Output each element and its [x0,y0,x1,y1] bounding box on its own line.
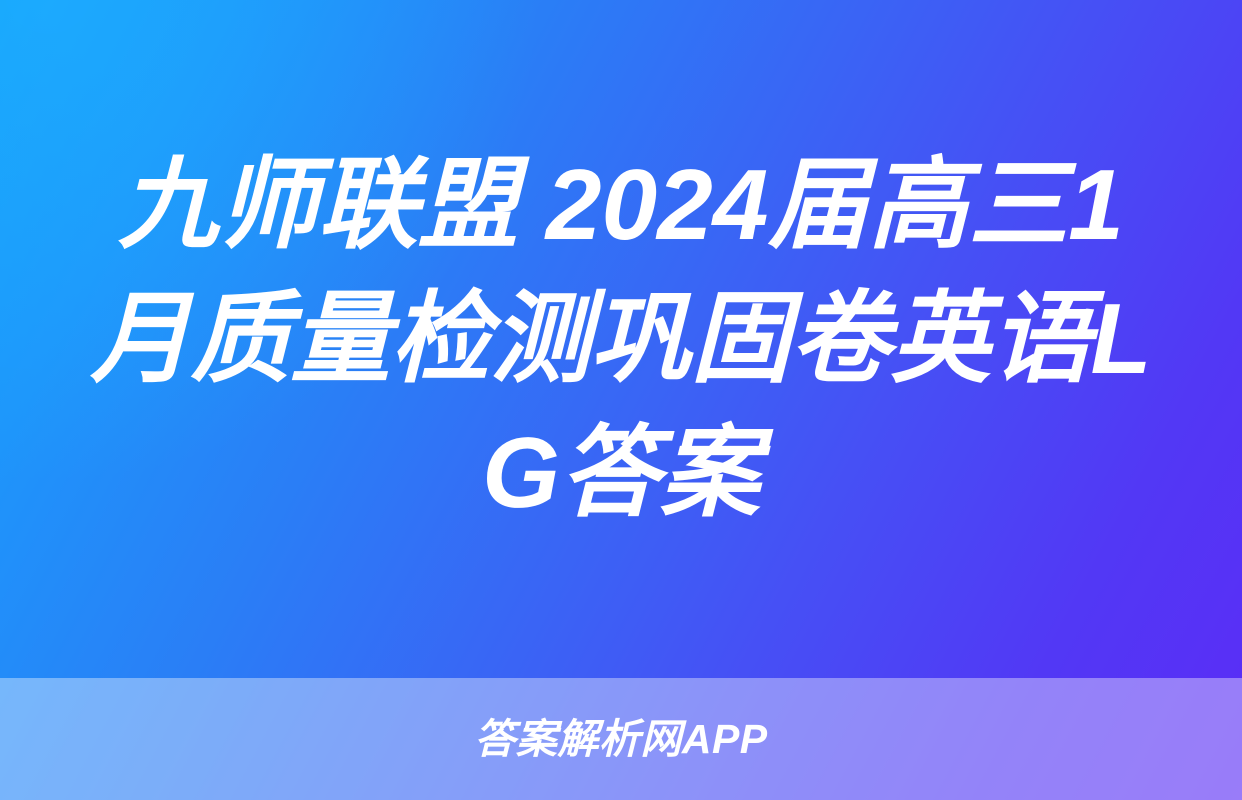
page-title: 九师联盟 2024届高三1月质量检测巩固卷英语LG答案 [71,138,1171,540]
app-watermark-label: 答案解析网APP [474,719,767,760]
app-watermark-band: 答案解析网APP [0,678,1242,800]
title-block: 九师联盟 2024届高三1月质量检测巩固卷英语LG答案 [0,0,1242,678]
cover-card: 九师联盟 2024届高三1月质量检测巩固卷英语LG答案 答案解析网APP [0,0,1242,800]
